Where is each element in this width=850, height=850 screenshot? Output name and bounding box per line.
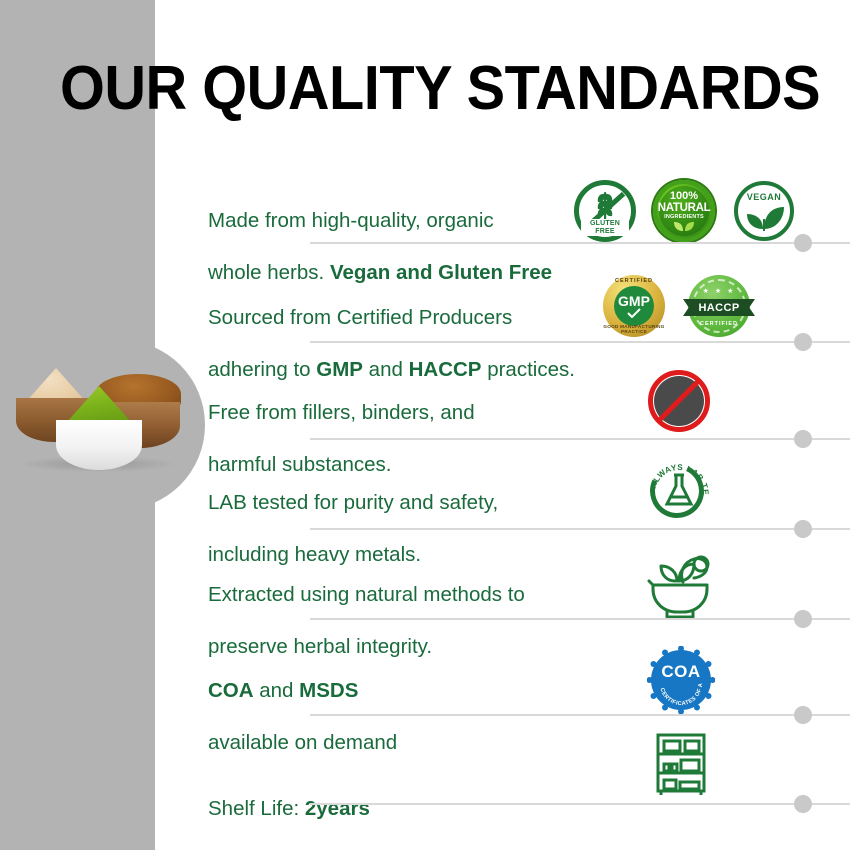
gmp-label: GMP — [618, 295, 650, 308]
standard-row-shelf-life: Shelf Life: 2years — [155, 730, 850, 805]
row-extraction-line1: Extracted using natural methods to — [208, 583, 525, 606]
vegan-badge: VEGAN — [734, 181, 794, 241]
row-end-dot — [794, 430, 812, 448]
page-title: OUR QUALITY STANDARDS — [60, 58, 820, 120]
mortar-pestle-glyph — [639, 548, 719, 622]
row-end-dot — [794, 706, 812, 724]
row-shelflife-line1: Shelf Life: 2years — [208, 797, 370, 820]
haccp-stars: ★ ★ ★ — [688, 287, 750, 295]
svg-text:CERTIFICATES OF ANALYSIS: CERTIFICATES OF ANALYSIS — [649, 648, 704, 707]
standard-row-certified-producers: Sourced from Certified Producers adherin… — [155, 275, 850, 343]
row-divider — [310, 714, 850, 716]
row-divider — [310, 618, 850, 620]
leaf-pair-icon — [672, 221, 696, 232]
standard-row-organic: Made from high-quality, organic whole he… — [155, 178, 850, 244]
row-organic-line1: Made from high-quality, organic — [208, 209, 494, 232]
row-divider — [310, 528, 850, 530]
100-natural-ingredients-badge: 100% NATURAL INGREDIENTS — [653, 180, 715, 242]
row-nofillers-line1: Free from fillers, binders, and — [208, 401, 475, 424]
always-lab-tested-badge: ALWAYS LAB TESTED — [646, 458, 712, 524]
gmp-certified-badge: CERTIFIED GMP GOOD MANUFACTURING PRACTIC… — [603, 275, 665, 337]
row-divider — [310, 341, 850, 343]
row-end-dot — [794, 333, 812, 351]
row-certified-line1: Sourced from Certified Producers — [208, 306, 512, 329]
haccp-certified-badge: ★ ★ ★ HACCP CERTIFIED — [688, 275, 750, 337]
haccp-certified-label: CERTIFIED — [688, 321, 750, 327]
shelf-rack-icon — [650, 730, 712, 796]
standard-row-coa-msds: COA and MSDS available on demand — [155, 648, 850, 716]
natural-percent: 100% — [670, 191, 698, 202]
check-icon — [627, 308, 641, 318]
shelf-rack-glyph — [650, 730, 712, 796]
vegan-label: VEGAN — [734, 192, 794, 202]
row-end-dot — [794, 234, 812, 252]
haccp-label: HACCP — [698, 302, 739, 314]
green-powder-bowl — [56, 420, 142, 470]
gmp-bottom-label: GOOD MANUFACTURING PRACTICE — [603, 324, 665, 334]
standard-row-lab-tested: LAB tested for purity and safety, includ… — [155, 460, 850, 530]
row-coa-line1: COA and MSDS — [208, 679, 358, 702]
gmp-inner: GMP — [614, 286, 654, 326]
standard-row-natural-extraction: Extracted using natural methods to prese… — [155, 552, 850, 620]
gluten-free-label: GLUTEN FREE — [581, 219, 629, 236]
row-divider — [310, 803, 850, 805]
row-end-dot — [794, 520, 812, 538]
gluten-free-badge: GLUTEN FREE — [574, 180, 636, 242]
row-divider — [310, 438, 850, 440]
standard-row-no-fillers: Free from fillers, binders, and harmful … — [155, 370, 850, 440]
mortar-and-pestle-icon — [639, 548, 719, 622]
natural-word: NATURAL — [658, 202, 711, 214]
no-chemicals-icon — [648, 370, 710, 432]
row-divider — [310, 242, 850, 244]
haccp-ribbon: HACCP — [683, 299, 755, 316]
gmp-top-label: CERTIFIED — [603, 278, 665, 284]
natural-ingredients-word: INGREDIENTS — [664, 214, 704, 221]
coa-subtitle: CERTIFICATES OF ANALYSIS — [649, 648, 713, 712]
row-end-dot — [794, 795, 812, 813]
row-labtested-line1: LAB tested for purity and safety, — [208, 491, 498, 514]
flask-icon — [646, 458, 712, 524]
row-end-dot — [794, 610, 812, 628]
coa-badge: COA CERTIFICATES OF ANALYSIS — [649, 648, 713, 712]
quality-standards-infographic: OUR QUALITY STANDARDS Made from high-qua… — [0, 0, 850, 850]
